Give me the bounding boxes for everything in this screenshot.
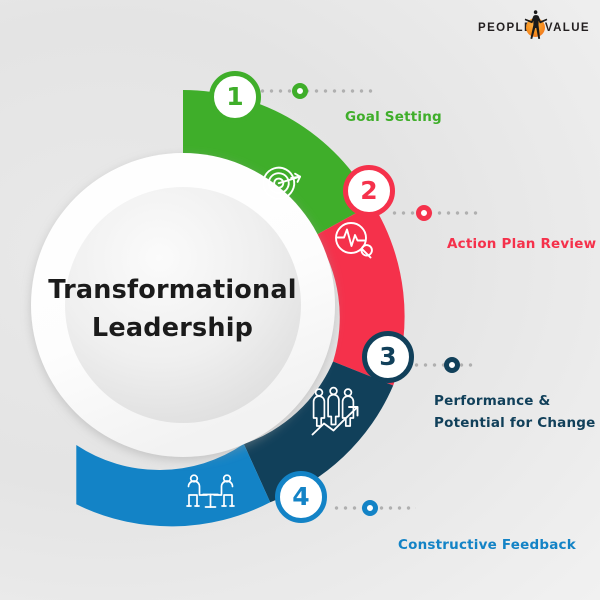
connector-3 <box>412 357 476 373</box>
step-badge-3[interactable]: 3 <box>362 331 414 383</box>
step-label-3: Performance & Potential for Change <box>434 390 595 435</box>
connector-4-marker[interactable] <box>362 500 378 516</box>
connector-4 <box>332 500 418 516</box>
connector-1-marker[interactable] <box>292 83 308 99</box>
step-label-2: Action Plan Review <box>447 233 596 255</box>
connector-1 <box>258 83 378 99</box>
step-label-1: Goal Setting <box>345 106 442 128</box>
connector-2 <box>390 205 482 221</box>
step-badge-4[interactable]: 4 <box>275 471 327 523</box>
connector-2-marker[interactable] <box>416 205 432 221</box>
people-value-logo: PEOPLE VALUE <box>478 8 590 42</box>
connector-3-dots <box>412 363 474 367</box>
step-badge-3-number: 3 <box>379 344 396 369</box>
infographic-canvas: PEOPLE VALUE <, /> <box>0 0 600 600</box>
process-wheel: <, /> <box>8 60 428 540</box>
connector-1-dots <box>258 89 376 93</box>
step-badge-2[interactable]: 2 <box>343 165 395 217</box>
step-badge-1-number: 1 <box>226 84 243 109</box>
center-donut <box>31 153 335 457</box>
step-label-4: Constructive Feedback <box>398 534 576 556</box>
step-badge-2-number: 2 <box>360 178 377 203</box>
logo-word-value: VALUE <box>545 22 590 34</box>
connector-2-dots <box>390 211 480 215</box>
step-badge-4-number: 4 <box>292 484 309 509</box>
step-badge-1[interactable]: 1 <box>209 71 261 123</box>
connector-3-marker[interactable] <box>444 357 460 373</box>
